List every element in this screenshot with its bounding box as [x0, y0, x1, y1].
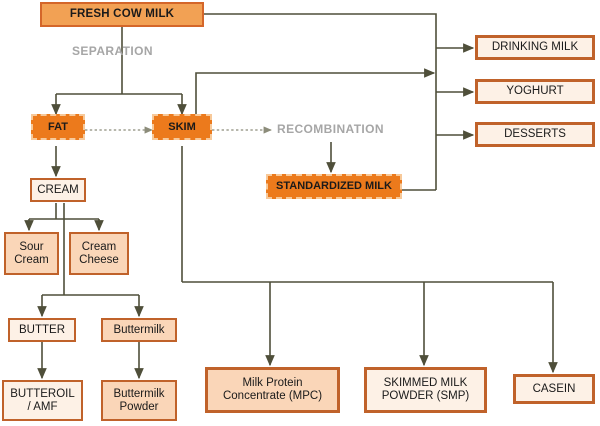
node-casein[interactable]: CASEIN [513, 374, 595, 404]
process-label-separation: SEPARATION [72, 44, 153, 58]
node-drinking-milk[interactable]: DRINKING MILK [475, 35, 595, 60]
node-yoghurt[interactable]: YOGHURT [475, 79, 595, 104]
process-label-recombination: RECOMBINATION [277, 122, 384, 136]
wire-freshmilk-to-right-trunk [204, 14, 436, 190]
node-standardized-milk[interactable]: STANDARDIZED MILK [266, 174, 402, 199]
node-fresh-cow-milk[interactable]: FRESH COW MILK [40, 2, 204, 27]
node-skim[interactable]: SKIM [152, 114, 212, 140]
wire-skim-to-trunk-feed [196, 73, 434, 114]
connector-layer: SKIM ---- dashed ---> RECOMBINATION --> [0, 0, 600, 426]
node-smp[interactable]: SKIMMED MILK POWDER (SMP) [364, 367, 487, 413]
node-fat[interactable]: FAT [31, 114, 85, 140]
node-sour-cream[interactable]: Sour Cream [4, 232, 59, 275]
node-desserts[interactable]: DESSERTS [475, 122, 595, 147]
node-butteroil-amf[interactable]: BUTTEROIL / AMF [2, 380, 83, 421]
milk-processing-flowchart: SKIM ---- dashed ---> RECOMBINATION --> [0, 0, 600, 426]
node-cream[interactable]: CREAM [30, 178, 86, 202]
node-butter[interactable]: BUTTER [8, 318, 76, 342]
node-buttermilk[interactable]: Buttermilk [101, 318, 177, 342]
node-cream-cheese[interactable]: Cream Cheese [69, 232, 129, 275]
node-mpc[interactable]: Milk Protein Concentrate (MPC) [205, 367, 340, 413]
node-buttermilk-powder[interactable]: Buttermilk Powder [101, 380, 177, 421]
